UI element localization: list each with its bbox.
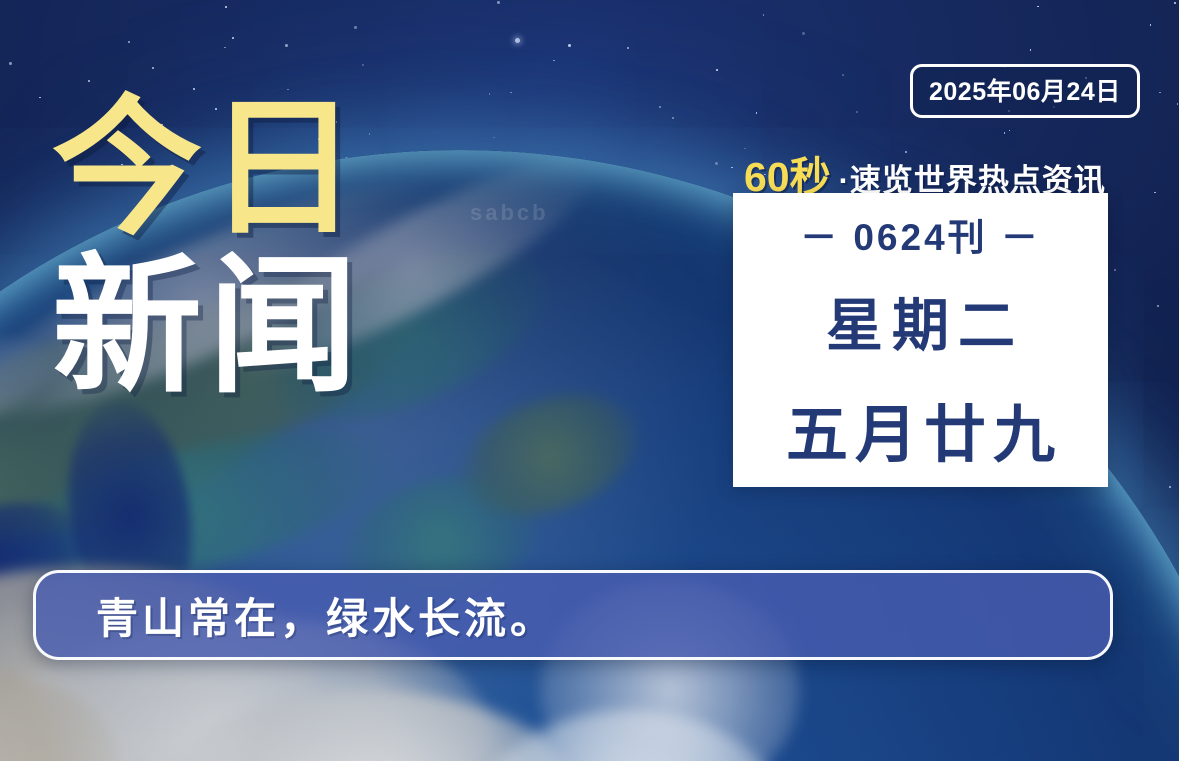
- quote-banner: 青山常在，绿水长流。: [33, 570, 1113, 660]
- date-badge: 2025年06月24日: [910, 64, 1140, 118]
- page-title: 今日 新闻: [52, 96, 364, 398]
- quote-text: 青山常在，绿水长流。: [96, 585, 556, 646]
- title-line-today: 今日: [52, 96, 364, 240]
- title-line-news: 新闻: [52, 254, 364, 398]
- poster-canvas: sabcb 今日 新闻 2025年06月24日 60秒 ·速览世界热点资讯 － …: [0, 0, 1179, 761]
- weekday-label: 星期二: [817, 280, 1024, 362]
- watermark-text: sabcb: [470, 200, 549, 226]
- info-card: － 0624刊 － 星期二 五月廿九: [733, 193, 1108, 487]
- lunar-date-label: 五月廿九: [779, 384, 1062, 474]
- issue-number: － 0624刊 －: [800, 207, 1041, 261]
